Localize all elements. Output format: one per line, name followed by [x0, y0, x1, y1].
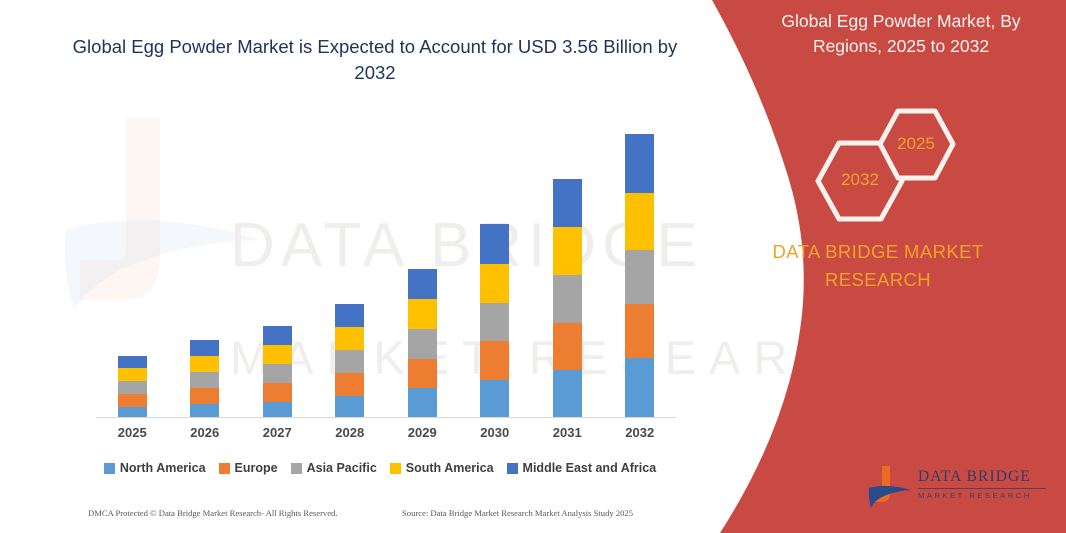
bar-segment: [190, 356, 219, 372]
bar-segment: [190, 340, 219, 356]
bar-segment: [118, 368, 147, 381]
bar-segment: [335, 327, 364, 350]
bar-column: [408, 269, 437, 418]
bar-segment: [263, 345, 292, 364]
legend-item[interactable]: Europe: [219, 461, 278, 475]
bar-segment: [263, 402, 292, 418]
legend-item[interactable]: South America: [390, 461, 494, 475]
bar-segment: [263, 383, 292, 402]
bar-segment: [190, 372, 219, 388]
legend-item[interactable]: Middle East and Africa: [507, 461, 657, 475]
bar-segment: [335, 373, 364, 396]
x-axis-tick-label: 2028: [321, 425, 379, 440]
legend-item[interactable]: North America: [104, 461, 206, 475]
bar-segment: [480, 224, 509, 264]
bar-column: [190, 340, 219, 418]
legend-label: Asia Pacific: [307, 461, 377, 475]
x-axis-tick-label: 2030: [466, 425, 524, 440]
bar-segment: [625, 193, 654, 250]
bar-segment: [335, 304, 364, 327]
bar-column: [263, 326, 292, 418]
legend-label: Europe: [235, 461, 278, 475]
chart-plot-area: [96, 110, 676, 418]
brand-logo-subtitle: MARKET RESEARCH: [918, 491, 1046, 500]
bar-segment: [553, 370, 582, 418]
bar-segment: [190, 404, 219, 418]
brand-logo-divider: [918, 488, 1046, 489]
bar-segment: [408, 388, 437, 418]
x-axis-tick-label: 2025: [103, 425, 161, 440]
legend-label: North America: [120, 461, 206, 475]
bar-segment: [408, 299, 437, 329]
bar-column: [480, 224, 509, 418]
legend-item[interactable]: Asia Pacific: [291, 461, 377, 475]
right-side-panel: Global Egg Powder Market, By Regions, 20…: [690, 0, 1066, 533]
bar-segment: [408, 359, 437, 388]
bar-segment: [263, 364, 292, 383]
bar-segment: [118, 381, 147, 394]
bar-column: [118, 356, 147, 418]
page-title: Global Egg Powder Market is Expected to …: [70, 34, 680, 86]
infographic-canvas: DATA BRIDGE MARKET RESEARCH Global Egg P…: [0, 0, 1066, 533]
bar-segment: [408, 269, 437, 299]
bar-column: [553, 179, 582, 418]
bar-segment: [480, 264, 509, 303]
footer-copyright: DMCA Protected © Data Bridge Market Rese…: [88, 508, 338, 518]
legend-label: Middle East and Africa: [523, 461, 657, 475]
x-axis-tick-label: 2027: [248, 425, 306, 440]
bar-segment: [480, 380, 509, 418]
panel-brand-text: DATA BRIDGE MARKET RESEARCH: [728, 238, 1028, 294]
bar-segment: [625, 358, 654, 418]
hexagon-2025: 2025: [875, 107, 957, 182]
panel-title: Global Egg Powder Market, By Regions, 20…: [746, 9, 1056, 59]
bar-segment: [118, 394, 147, 407]
bar-segment: [625, 250, 654, 304]
chart-x-axis: 20252026202720282029203020312032: [96, 425, 676, 447]
bar-segment: [480, 341, 509, 380]
bar-segment: [408, 329, 437, 359]
bar-column: [625, 134, 654, 418]
chart-legend: North AmericaEuropeAsia PacificSouth Ame…: [80, 457, 680, 479]
bar-segment: [553, 179, 582, 227]
brand-logo: DATA BRIDGE MARKET RESEARCH: [868, 462, 1046, 512]
x-axis-tick-label: 2031: [538, 425, 596, 440]
legend-swatch: [219, 463, 230, 474]
brand-logo-mark-icon: [868, 464, 914, 510]
chart-baseline: [96, 417, 676, 418]
x-axis-tick-label: 2026: [176, 425, 234, 440]
hexagon-2025-label: 2025: [875, 134, 957, 154]
bar-segment: [480, 303, 509, 341]
bar-segment: [625, 134, 654, 193]
bar-column: [335, 304, 364, 418]
bar-segment: [335, 350, 364, 373]
panel-content: Global Egg Powder Market, By Regions, 20…: [690, 0, 1066, 533]
x-axis-tick-label: 2032: [611, 425, 669, 440]
panel-brand-line1: DATA BRIDGE MARKET: [728, 238, 1028, 266]
bar-segment: [263, 326, 292, 345]
bar-segment: [625, 304, 654, 358]
legend-swatch: [390, 463, 401, 474]
legend-label: South America: [406, 461, 494, 475]
panel-brand-line2: RESEARCH: [728, 266, 1028, 294]
bar-segment: [553, 275, 582, 323]
legend-swatch: [291, 463, 302, 474]
legend-swatch: [507, 463, 518, 474]
bar-segment: [553, 227, 582, 275]
bar-segment: [335, 396, 364, 418]
bar-segment: [190, 388, 219, 404]
brand-logo-name: DATA BRIDGE: [918, 468, 1046, 486]
x-axis-tick-label: 2029: [393, 425, 451, 440]
footer-source: Source: Data Bridge Market Research Mark…: [402, 508, 633, 518]
legend-swatch: [104, 463, 115, 474]
brand-logo-words: DATA BRIDGE MARKET RESEARCH: [918, 468, 1046, 500]
bar-segment: [118, 356, 147, 368]
bar-segment: [553, 323, 582, 370]
